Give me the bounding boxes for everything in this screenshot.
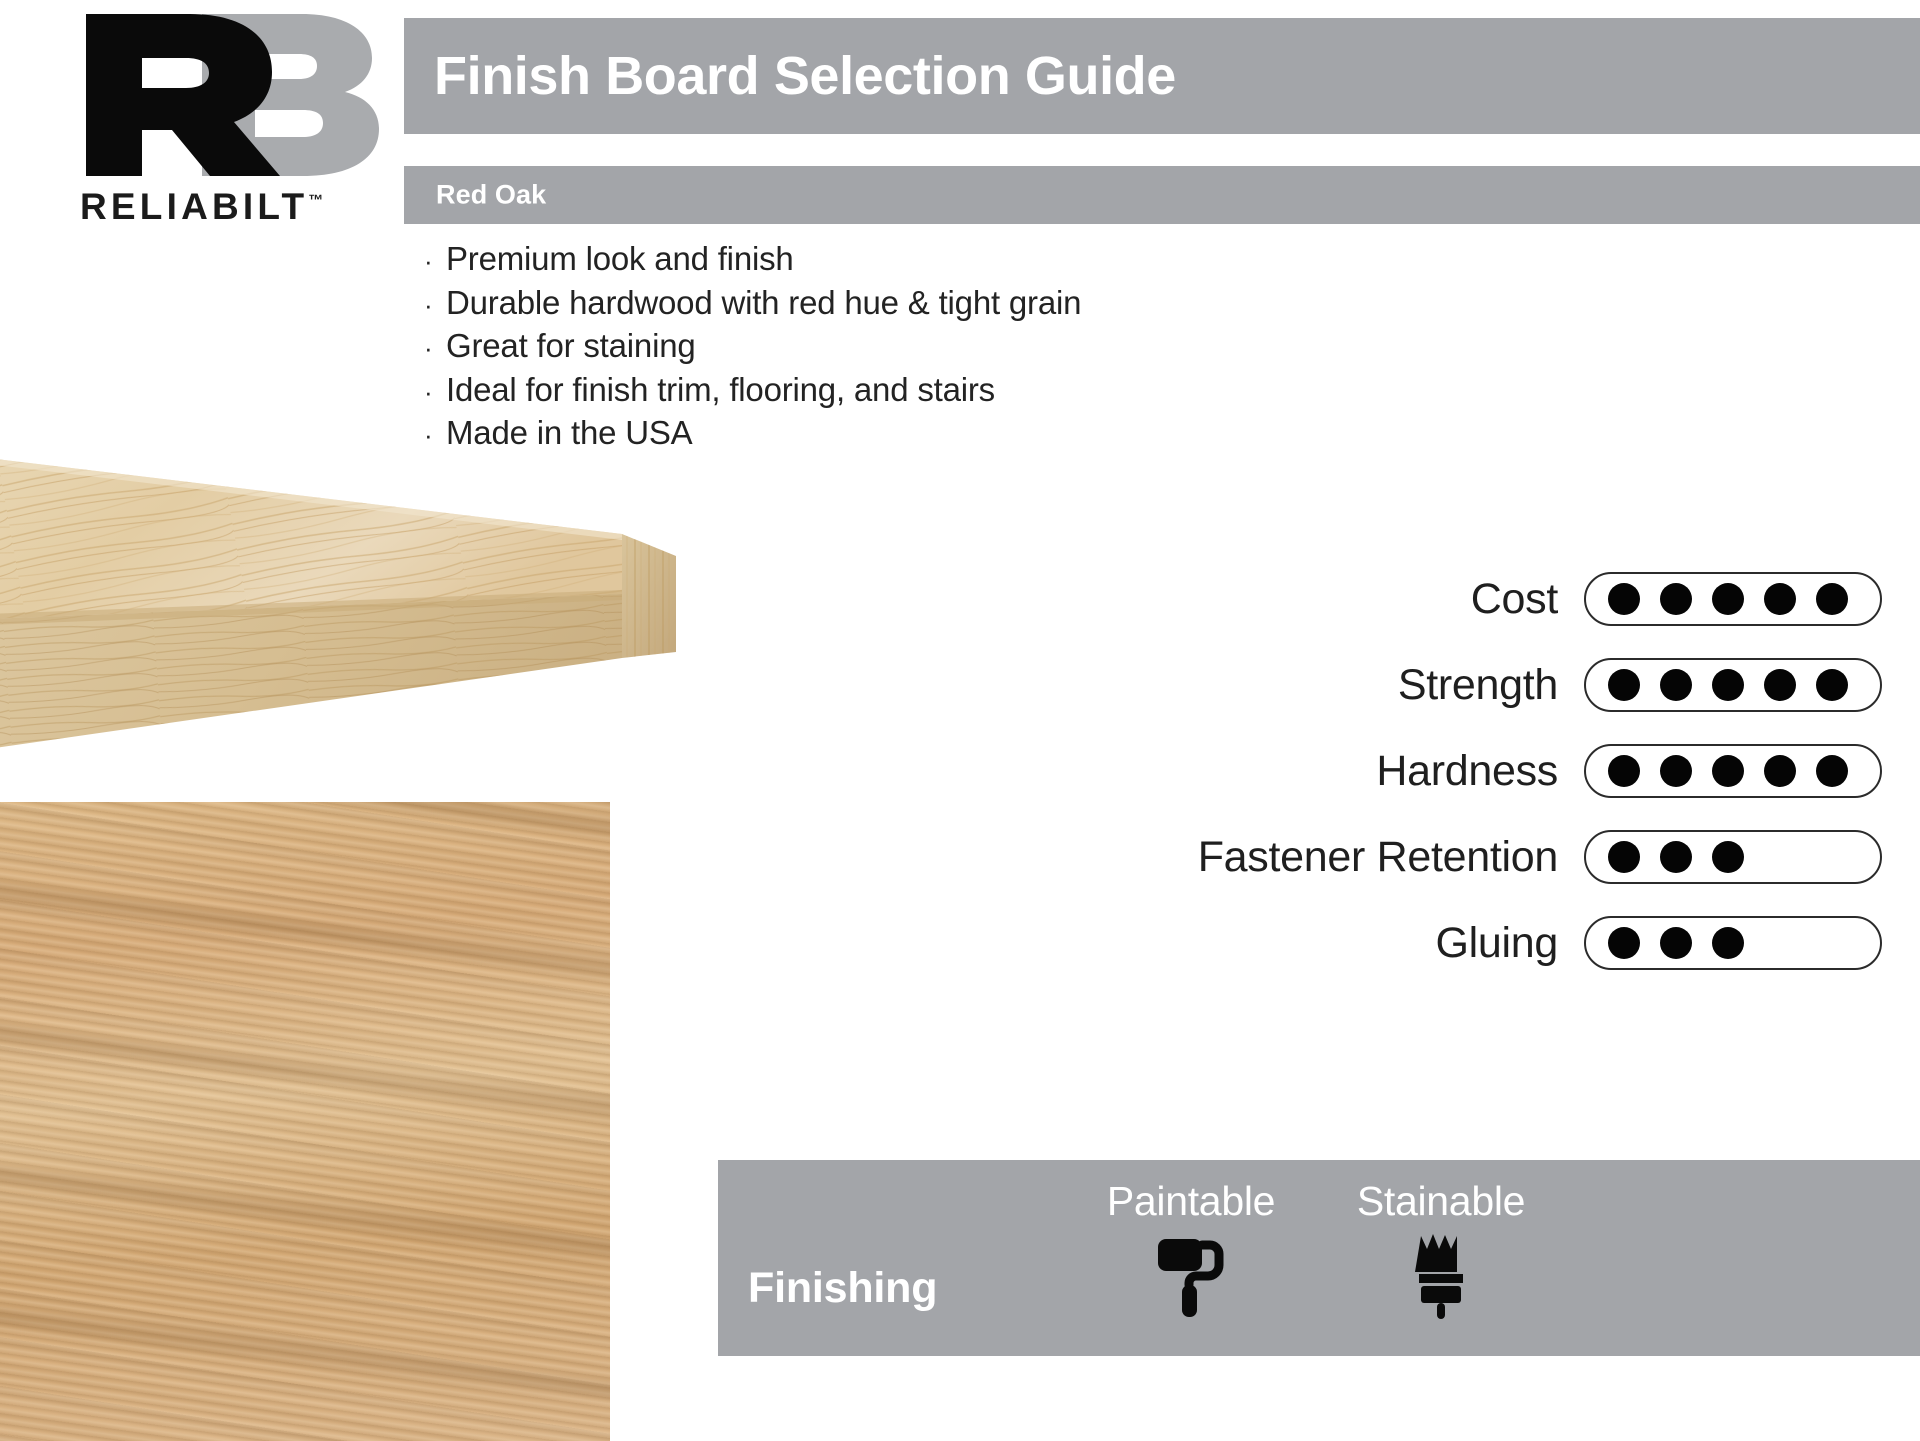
rating-pip-empty: [1764, 841, 1796, 873]
rating-pip-filled: [1816, 669, 1848, 701]
rating-label: Fastener Retention: [1198, 833, 1558, 882]
rating-meter-strength: [1584, 658, 1882, 712]
paint-brush-icon: [1316, 1231, 1566, 1323]
rating-label: Hardness: [1376, 747, 1558, 796]
finishing-panel: Finishing Paintable Stainable: [718, 1160, 1920, 1356]
rating-pip-filled: [1608, 755, 1640, 787]
grain-swatch-photo: [0, 802, 610, 1441]
rating-meter-hardness: [1584, 744, 1882, 798]
rating-meter-cost: [1584, 572, 1882, 626]
rating-pip-filled: [1764, 755, 1796, 787]
rating-meter-fastener-retention: [1584, 830, 1882, 884]
rating-pip-filled: [1712, 927, 1744, 959]
rating-pip-filled: [1816, 583, 1848, 615]
list-item-label: Durable hardwood with red hue & tight gr…: [446, 284, 1081, 322]
trademark-symbol: ™: [308, 192, 323, 209]
rating-pip-filled: [1712, 583, 1744, 615]
brand-wordmark-text: RELIABILT: [80, 186, 308, 227]
rating-row-fastener-retention: Fastener Retention: [760, 814, 1920, 900]
bullet-icon: ·: [424, 379, 446, 405]
bullet-icon: ·: [424, 248, 446, 274]
list-item-label: Premium look and finish: [446, 240, 794, 278]
rating-pip-filled: [1712, 755, 1744, 787]
brand-wordmark: RELIABILT™: [80, 186, 323, 228]
rating-pip-filled: [1660, 755, 1692, 787]
list-item: · Premium look and finish: [424, 240, 1324, 284]
rb-monogram-icon: [42, 10, 392, 180]
rating-label: Strength: [1398, 661, 1558, 710]
species-bar: Red Oak: [404, 166, 1920, 224]
rating-label: Gluing: [1436, 919, 1559, 968]
rating-pip-empty: [1816, 841, 1848, 873]
paint-roller-icon: [1066, 1231, 1316, 1323]
list-item-label: Great for staining: [446, 327, 696, 365]
finishing-option-paintable: Paintable: [1066, 1178, 1316, 1323]
brand-logo-block: RELIABILT™: [42, 10, 392, 230]
rating-label: Cost: [1471, 575, 1558, 624]
rating-pip-empty: [1816, 927, 1848, 959]
rating-pip-filled: [1712, 841, 1744, 873]
rating-pip-filled: [1764, 583, 1796, 615]
rating-pip-filled: [1608, 927, 1640, 959]
bullet-icon: ·: [424, 335, 446, 361]
rating-pip-empty: [1764, 927, 1796, 959]
rating-row-hardness: Hardness: [760, 728, 1920, 814]
rating-pip-filled: [1608, 669, 1640, 701]
rating-pip-filled: [1816, 755, 1848, 787]
ratings-panel: Cost Strength Hardness: [760, 556, 1920, 986]
bullet-icon: ·: [424, 292, 446, 318]
rating-pip-filled: [1608, 841, 1640, 873]
list-item: · Durable hardwood with red hue & tight …: [424, 284, 1324, 328]
rating-row-cost: Cost: [760, 556, 1920, 642]
title-bar: Finish Board Selection Guide: [404, 18, 1920, 134]
species-name: Red Oak: [436, 180, 546, 211]
list-item: · Great for staining: [424, 327, 1324, 371]
rating-row-gluing: Gluing: [760, 900, 1920, 986]
rating-pip-filled: [1660, 841, 1692, 873]
finishing-option-stainable: Stainable: [1316, 1178, 1566, 1323]
rating-pip-filled: [1660, 583, 1692, 615]
rating-pip-filled: [1608, 583, 1640, 615]
rating-pip-filled: [1660, 669, 1692, 701]
rating-pip-filled: [1764, 669, 1796, 701]
finishing-title: Finishing: [748, 1264, 937, 1313]
rating-meter-gluing: [1584, 916, 1882, 970]
board-photo: [0, 404, 700, 760]
rating-pip-filled: [1660, 927, 1692, 959]
list-item-label: Ideal for finish trim, flooring, and sta…: [446, 371, 995, 409]
rating-pip-filled: [1712, 669, 1744, 701]
finish-board-selection-guide-page: RELIABILT™ Finish Board Selection Guide …: [0, 0, 1920, 1441]
finishing-option-label: Stainable: [1316, 1178, 1566, 1225]
finishing-option-label: Paintable: [1066, 1178, 1316, 1225]
grain-streak-layer: [0, 802, 610, 1441]
rating-row-strength: Strength: [760, 642, 1920, 728]
page-title: Finish Board Selection Guide: [434, 45, 1176, 107]
